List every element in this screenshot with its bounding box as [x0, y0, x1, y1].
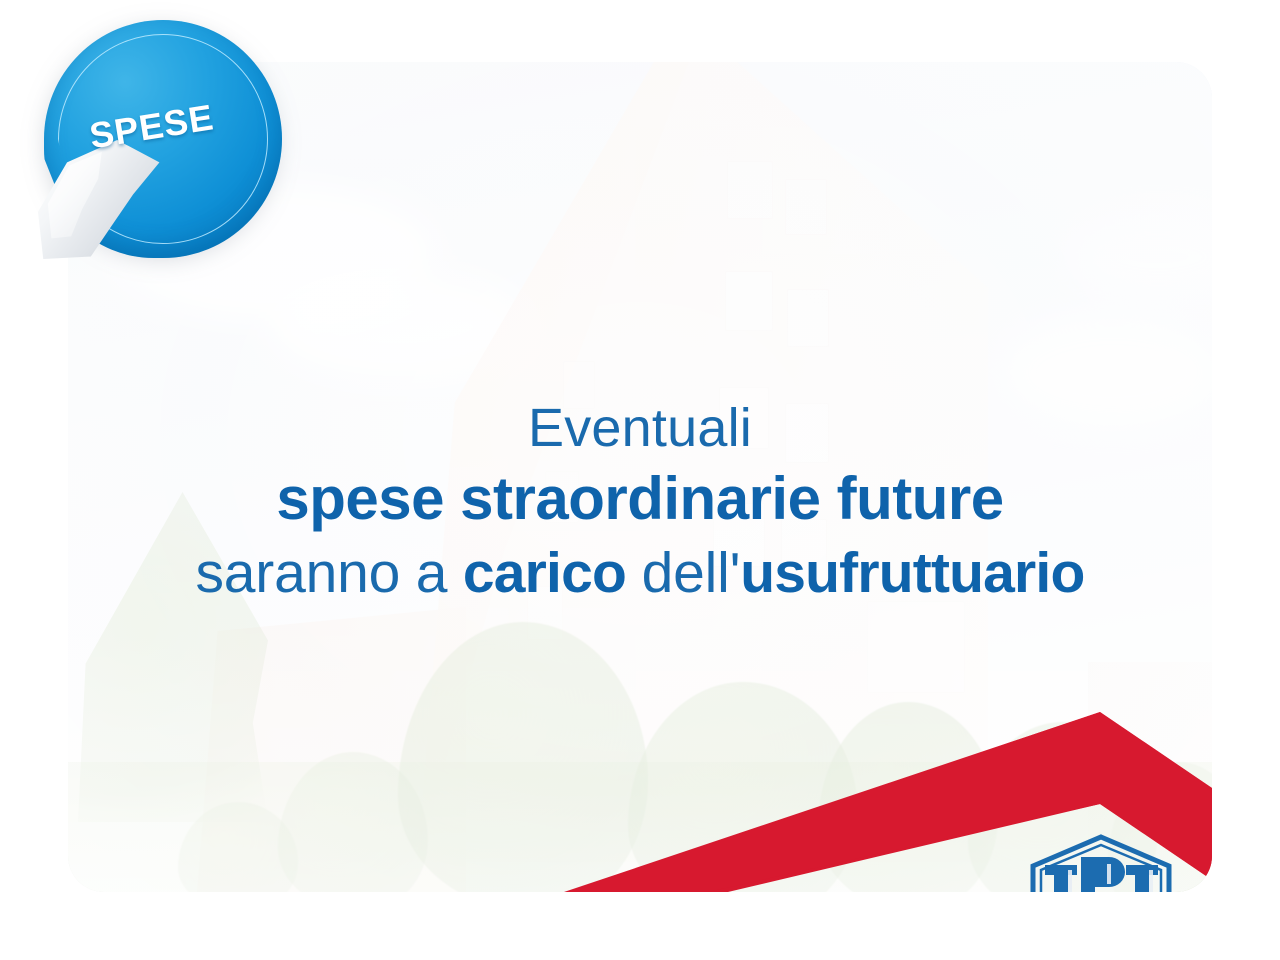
headline-line-3-bold-b: usufruttuario [740, 541, 1084, 605]
ipi-logo[interactable] [1023, 832, 1179, 892]
headline-line-2: spese straordinarie future [68, 467, 1212, 531]
headline-block: Eventuali spese straordinarie future sar… [68, 400, 1212, 603]
slide-canvas: Eventuali spese straordinarie future sar… [0, 0, 1280, 960]
sticker-label: SPESE [87, 96, 217, 157]
headline-line-3: saranno a carico dell'usufruttuario [68, 543, 1212, 603]
headline-line-1: Eventuali [68, 400, 1212, 457]
headline-line-3-text-b: dell' [626, 541, 740, 605]
headline-line-3-bold-a: carico [463, 541, 626, 605]
spese-sticker[interactable]: SPESE [32, 14, 284, 262]
headline-line-3-text-a: saranno a [196, 541, 463, 605]
sticker-label-wrap: SPESE [32, 14, 284, 262]
